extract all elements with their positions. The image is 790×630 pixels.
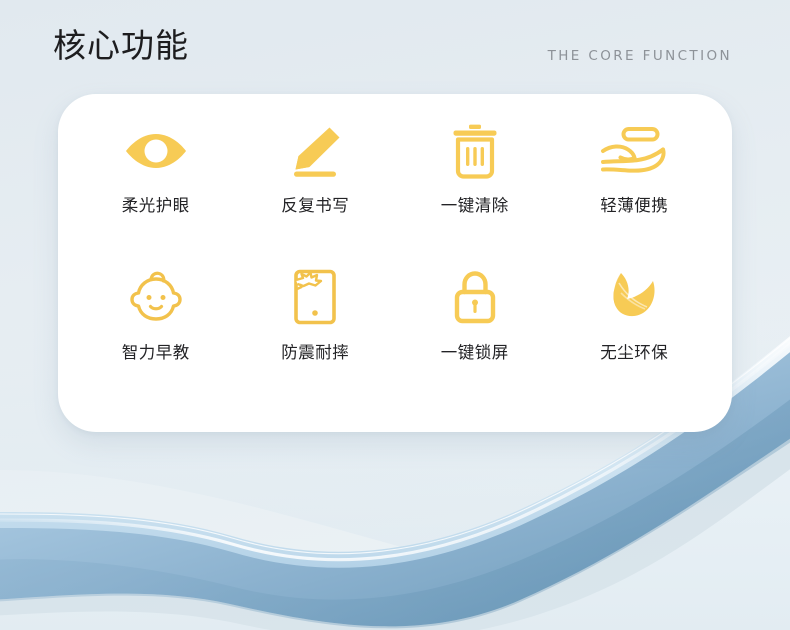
feature-card: 柔光护眼 反复书写 <box>58 94 732 432</box>
feature-label: 轻薄便携 <box>600 196 668 216</box>
page-title: 核心功能 <box>53 26 189 66</box>
hand-tablet-icon <box>598 120 670 182</box>
leaf-icon <box>598 265 670 329</box>
feature-item-shock-resistant[interactable]: 防震耐摔 <box>236 265 396 410</box>
feature-label: 一键锁屏 <box>441 343 509 363</box>
lock-icon <box>439 265 511 329</box>
page-subtitle: THE CORE FUNCTION <box>548 48 732 64</box>
feature-item-early-education[interactable]: 智力早教 <box>76 265 236 410</box>
feature-label: 一键清除 <box>441 196 509 216</box>
feature-item-rewritable[interactable]: 反复书写 <box>236 120 396 265</box>
cracked-tablet-icon <box>279 265 351 329</box>
feature-item-eye-care[interactable]: 柔光护眼 <box>76 120 236 265</box>
feature-item-lightweight-portable[interactable]: 轻薄便携 <box>555 120 715 265</box>
feature-label: 反复书写 <box>281 196 349 216</box>
feature-label: 无尘环保 <box>600 343 668 363</box>
slide-canvas: 核心功能 THE CORE FUNCTION 柔光护眼 <box>0 0 790 630</box>
baby-face-icon <box>120 265 192 329</box>
feature-label: 智力早教 <box>122 343 190 363</box>
pencil-icon <box>279 120 351 182</box>
feature-label: 防震耐摔 <box>281 343 349 363</box>
feature-grid: 柔光护眼 反复书写 <box>58 94 732 432</box>
feature-label: 柔光护眼 <box>122 196 190 216</box>
slide-header: 核心功能 THE CORE FUNCTION <box>0 0 790 92</box>
feature-item-dust-free-eco[interactable]: 无尘环保 <box>555 265 715 410</box>
feature-item-one-key-erase[interactable]: 一键清除 <box>395 120 555 265</box>
eye-icon <box>120 120 192 182</box>
trash-icon <box>439 120 511 182</box>
feature-item-one-key-lock[interactable]: 一键锁屏 <box>395 265 555 410</box>
